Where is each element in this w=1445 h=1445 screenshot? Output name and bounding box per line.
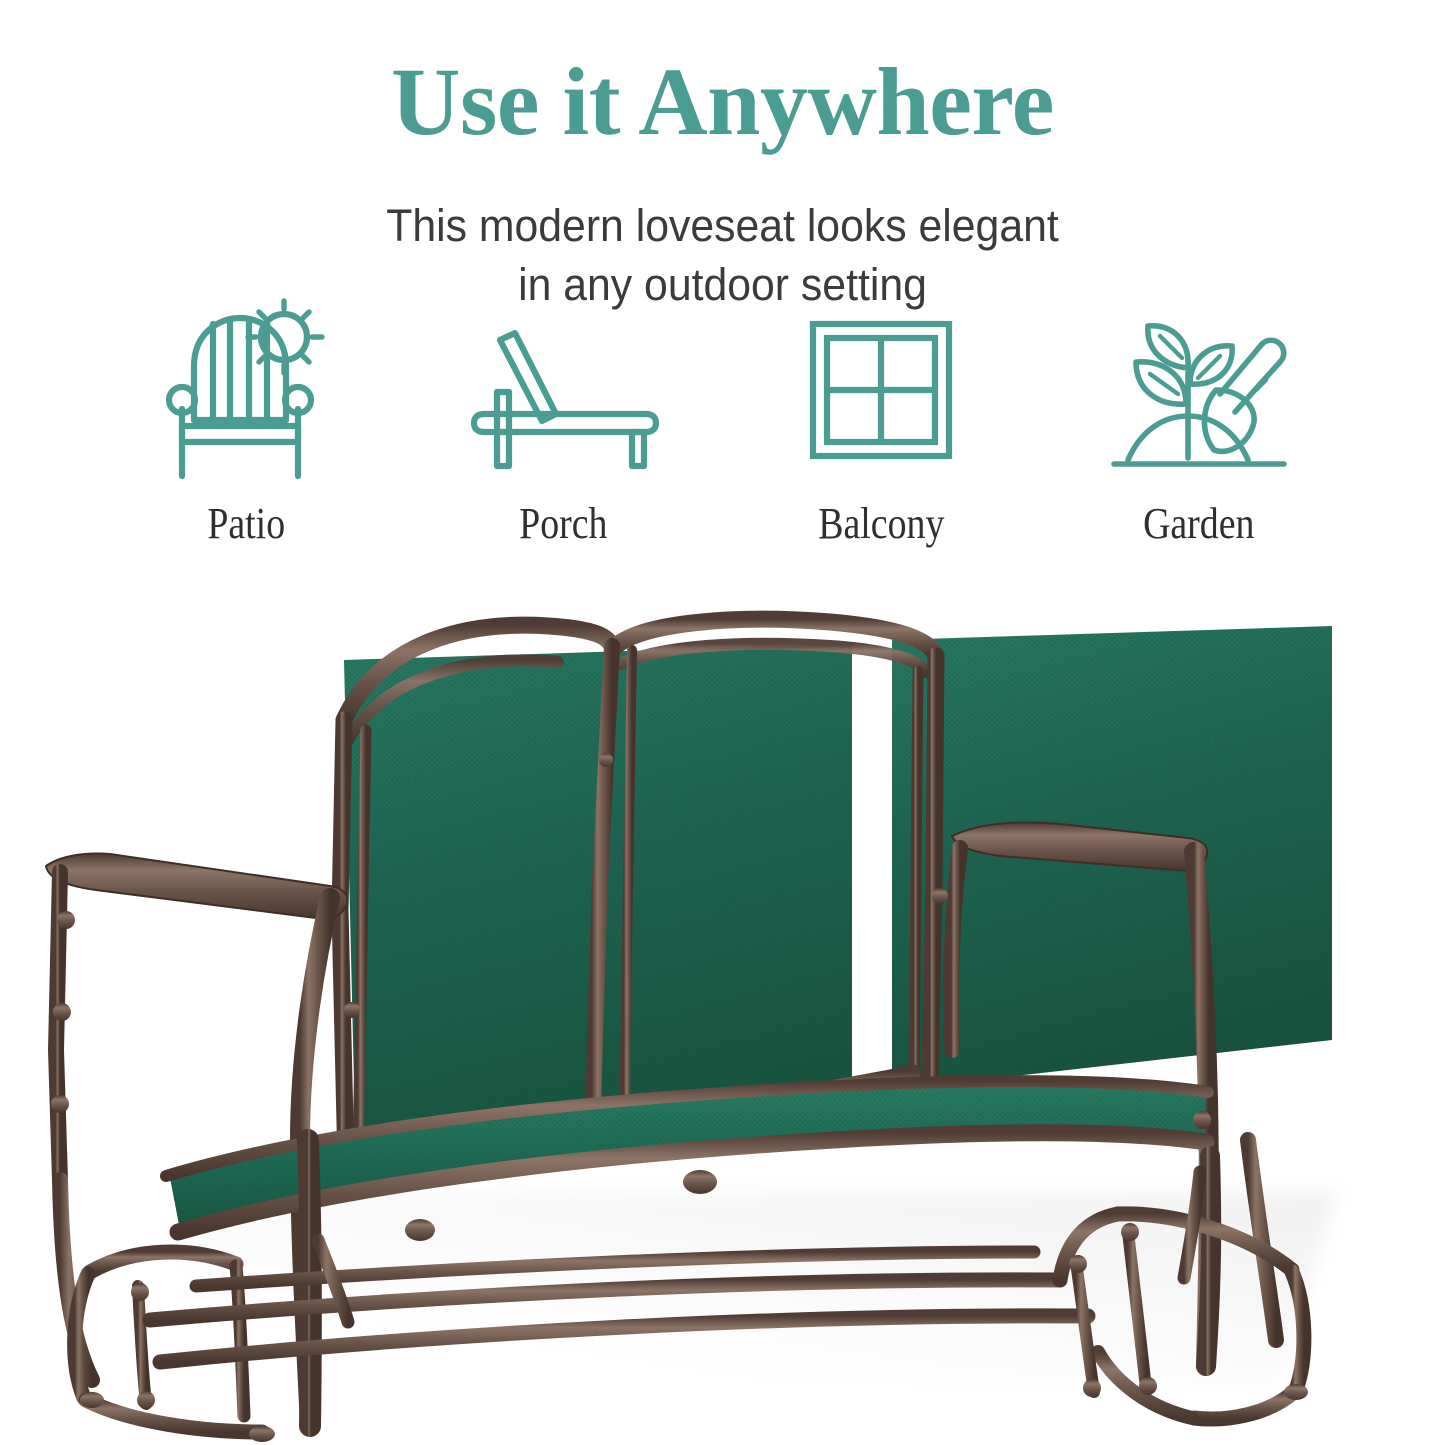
feature-label-patio: Patio xyxy=(207,498,285,549)
feature-item-balcony: Balcony xyxy=(731,296,1031,549)
adirondack-chair-sun-icon xyxy=(156,296,336,482)
feature-item-patio: Patio xyxy=(96,296,396,549)
product-image-outdoor-glider-loveseat xyxy=(0,580,1445,1445)
feature-label-balcony: Balcony xyxy=(818,498,944,549)
chaise-lounge-icon xyxy=(464,296,664,482)
feature-item-garden: Garden xyxy=(1049,296,1349,549)
marketing-infographic: Use it Anywhere This modern loveseat loo… xyxy=(0,0,1445,1445)
feature-item-porch: Porch xyxy=(414,296,714,549)
window-four-pane-icon xyxy=(801,296,961,482)
subtitle-line-1: This modern loveseat looks elegant xyxy=(36,196,1409,255)
glider-bench-illustration xyxy=(0,580,1445,1445)
feature-label-porch: Porch xyxy=(520,498,608,549)
plant-trowel-icon xyxy=(1104,296,1294,482)
feature-label-garden: Garden xyxy=(1143,498,1254,549)
page-title: Use it Anywhere xyxy=(0,52,1445,153)
feature-icon-row: Patio Porch xyxy=(96,296,1349,566)
